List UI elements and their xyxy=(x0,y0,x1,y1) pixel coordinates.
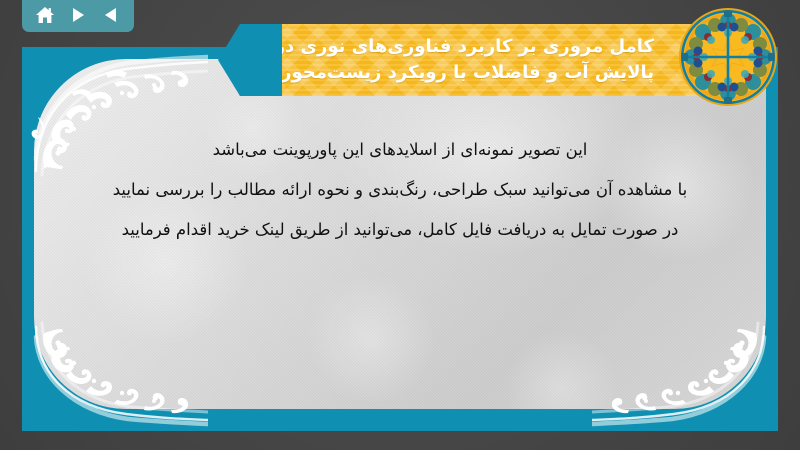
triangle-right-icon xyxy=(69,6,87,24)
banner-chevron-notch xyxy=(218,24,290,96)
slide-title-banner: کامل مروری بر کاربرد فناوری‌های نوری در … xyxy=(282,24,728,96)
slide-body-text: این تصویر نمونه‌ای از اسلایدهای این پاور… xyxy=(46,130,754,250)
body-line-2: با مشاهده آن می‌توانید سبک طراحی، رنگ‌بن… xyxy=(46,170,754,210)
body-line-3: در صورت تمایل به دریافت فایل کامل، می‌تو… xyxy=(46,210,754,250)
previous-slide-button[interactable] xyxy=(98,3,124,27)
persian-medallion-icon xyxy=(676,5,780,109)
body-line-1: این تصویر نمونه‌ای از اسلایدهای این پاور… xyxy=(46,130,754,170)
home-button[interactable] xyxy=(32,3,58,27)
triangle-left-icon xyxy=(102,6,120,24)
slide-navigation-bar[interactable] xyxy=(22,0,134,32)
title-line-1: کامل مروری بر کاربرد فناوری‌های نوری در xyxy=(296,34,654,60)
next-slide-button[interactable] xyxy=(65,3,91,27)
title-line-2: پالایش آب و فاضلاب با رویکرد زیست‌محور xyxy=(296,60,654,86)
home-icon xyxy=(35,6,55,24)
slide-canvas: این تصویر نمونه‌ای از اسلایدهای این پاور… xyxy=(0,0,800,450)
